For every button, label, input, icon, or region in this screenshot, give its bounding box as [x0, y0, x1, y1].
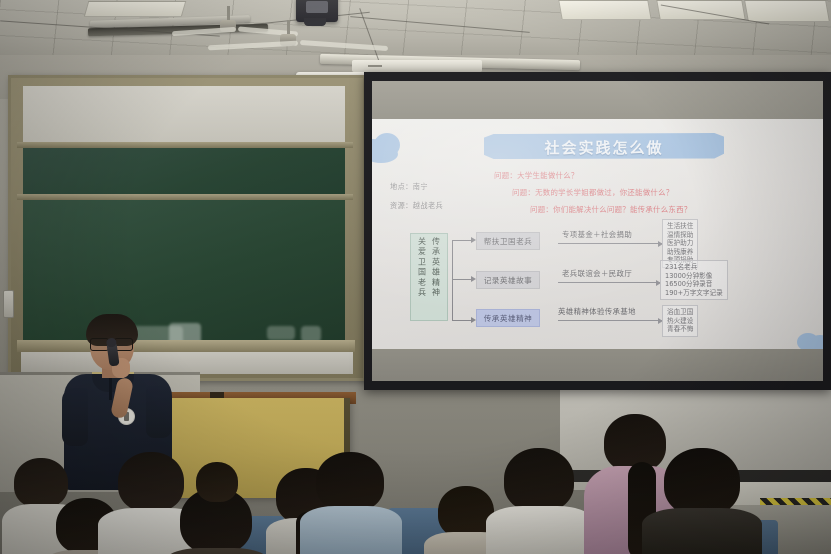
outcome-line: 13000分钟影像 — [665, 272, 723, 281]
flow-arrow-1 — [558, 243, 662, 244]
outcome-box-2: 231名老兵 13000分钟影像 16500分钟录音 190+万字文字记录 — [660, 260, 728, 300]
blackboard-green-panel — [23, 148, 345, 196]
outcome-line: 青春不悔 — [667, 325, 693, 334]
presenter-placket — [109, 378, 112, 400]
student-torso — [300, 506, 402, 554]
action-box-1: 帮扶卫国老兵 — [476, 232, 540, 250]
projector-screen: 社会实践怎么做 问题：大学生能做什么？ 问题：无数的学长学姐都做过，你还能做什么… — [364, 72, 831, 390]
student-torso — [486, 506, 594, 554]
outcome-line: 生活扶住 — [667, 222, 693, 231]
outcome-line: 温情探助 — [667, 231, 693, 240]
ceiling-light-panel — [558, 0, 652, 20]
outcome-line: 医护助力 — [667, 239, 693, 248]
slide-question-2: 问题：无数的学长学姐都做过，你还能做什么？ — [512, 187, 674, 198]
screen-surface: 社会实践怎么做 问题：大学生能做什么？ 问题：无数的学长学姐都做过，你还能做什么… — [372, 81, 823, 381]
theme-column-right: 传承英雄精神 — [431, 234, 442, 320]
projector-icon — [296, 0, 338, 22]
student-head — [504, 448, 574, 512]
projector-screen-roller — [352, 60, 482, 72]
student-head — [118, 452, 184, 512]
light-switch-icon[interactable] — [3, 290, 14, 318]
cloud-decoration-icon — [793, 331, 823, 349]
outcome-line: 190+万字文字记录 — [665, 289, 723, 298]
action-box-3: 传承英雄精神 — [476, 309, 540, 327]
blackboard-upper-white-panel — [23, 86, 345, 142]
flow-arrow-2 — [558, 282, 660, 283]
ceiling-light-panel — [84, 1, 187, 17]
student-head — [664, 448, 740, 516]
theme-column-left: 关爱卫国老兵 — [417, 234, 428, 320]
student-torso — [642, 508, 762, 554]
flow-arrow-3 — [558, 320, 662, 321]
presentation-slide: 社会实践怎么做 问题：大学生能做什么？ 问题：无数的学长学姐都做过，你还能做什么… — [372, 119, 823, 349]
outcome-line: 热火建设 — [667, 317, 693, 326]
ceiling-light-panel — [744, 0, 830, 22]
student-head — [14, 458, 68, 508]
outcome-line: 16500分钟录音 — [665, 280, 723, 289]
projector-lens — [306, 1, 328, 13]
action-box-2: 记录英雄故事 — [476, 271, 540, 289]
outcome-line: 231名老兵 — [665, 263, 723, 272]
chalk-smudge — [267, 326, 295, 340]
cloud-decoration-icon — [372, 133, 410, 163]
partner-label-2: 老兵联谊会＋民政厅 — [562, 268, 632, 279]
outcome-box-3: 浴血卫国 热火建设 青春不悔 — [662, 305, 698, 337]
partner-label-3: 英雄精神体验传承基地 — [558, 306, 636, 317]
slide-meta-resource: 资源：越战老兵 — [390, 201, 443, 211]
letterbox-band-bottom — [372, 349, 823, 381]
presenter-sleeve-left — [62, 388, 88, 446]
slide-question-1: 问题：大学生能做什么？ — [494, 170, 579, 181]
student-head — [196, 462, 238, 502]
slide-meta-location: 地点：南宁 — [390, 182, 428, 192]
presenter-sleeve-right — [146, 386, 172, 438]
letterbox-band-top — [372, 81, 823, 119]
theme-vertical-box: 关爱卫国老兵 传承英雄精神 — [410, 233, 448, 321]
connector-bracket — [452, 240, 453, 320]
student-head — [316, 452, 384, 512]
partner-label-1: 专项基金＋社会捐助 — [562, 229, 632, 240]
outcome-line: 浴血卫国 — [667, 308, 693, 317]
slide-question-3: 问题：你们能解决什么问题？能传承什么东西？ — [530, 204, 692, 215]
classroom-photo: 社会实践怎么做 问题：大学生能做什么？ 问题：无数的学长学姐都做过，你还能做什么… — [0, 0, 831, 554]
slide-title: 社会实践怎么做 — [484, 135, 724, 159]
